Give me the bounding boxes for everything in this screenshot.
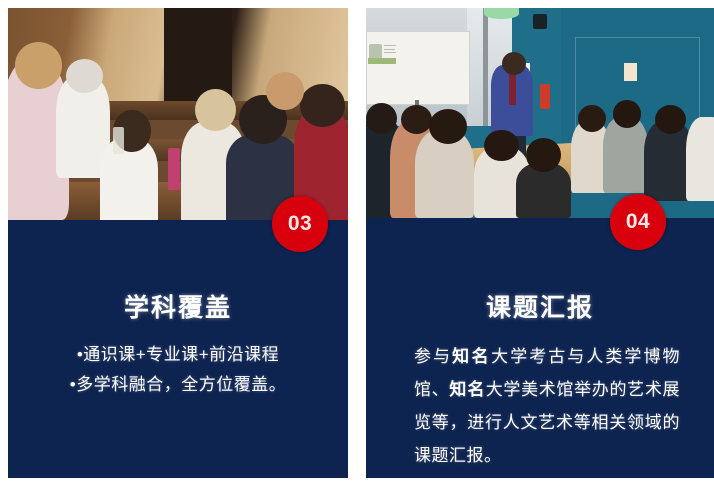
card-04: 课题汇报 参与知名大学考古与人类学博物馆、知名大学美术馆举办的艺术展览等，进行人… xyxy=(366,8,714,478)
slide-text-line xyxy=(384,45,395,46)
person-head xyxy=(195,89,236,131)
person-hand xyxy=(266,72,303,110)
audience-head xyxy=(655,105,686,134)
presenter-tie xyxy=(509,73,515,105)
photo-lecture-hall-scene xyxy=(8,8,348,220)
audience-figure xyxy=(603,117,648,193)
body-text-emphasis: 知名 xyxy=(452,347,491,366)
person-head xyxy=(66,59,103,93)
water-bottle xyxy=(113,127,123,155)
badge-04: 04 xyxy=(610,194,666,250)
card-03: 学科覆盖 •通识课+专业课+前沿课程 •多学科融合，全方位覆盖。 03 xyxy=(8,8,348,478)
audience-figure xyxy=(686,117,714,201)
photo-seminar-room-scene xyxy=(366,8,714,218)
card-03-panel: 学科覆盖 •通识课+专业课+前沿课程 •多学科融合，全方位覆盖。 xyxy=(8,220,348,478)
person-head xyxy=(300,84,344,126)
fire-extinguisher xyxy=(540,84,550,109)
wall-notice xyxy=(624,63,638,82)
slide-grass xyxy=(368,58,396,64)
card-03-title: 学科覆盖 xyxy=(8,288,348,324)
audience-head xyxy=(578,105,606,132)
card-04-panel: 课题汇报 参与知名大学考古与人类学博物馆、知名大学美术馆举办的艺术展览等，进行人… xyxy=(366,218,714,478)
infographic-page: 学科覆盖 •通识课+专业课+前沿课程 •多学科融合，全方位覆盖。 03 xyxy=(0,0,714,490)
card-03-bullet-list: •通识课+专业课+前沿课程 •多学科融合，全方位覆盖。 xyxy=(8,340,348,400)
slide-text-line xyxy=(384,49,394,50)
audience-head xyxy=(613,100,641,127)
projector-screen xyxy=(366,31,470,105)
ceiling-speaker xyxy=(533,14,547,29)
ceiling-light xyxy=(484,8,519,19)
list-item: •多学科融合，全方位覆盖。 xyxy=(8,370,348,400)
window-mullion xyxy=(483,8,488,126)
body-text-emphasis: 知名 xyxy=(449,380,485,399)
audience-head xyxy=(526,138,561,172)
body-text-run: 参与 xyxy=(414,347,452,366)
photo-lecture-hall xyxy=(8,8,348,220)
audience-head xyxy=(401,105,432,134)
water-bottle xyxy=(168,148,180,190)
person-head xyxy=(15,42,63,89)
audience-head xyxy=(429,109,467,145)
presenter-head xyxy=(502,52,526,75)
card-04-title: 课题汇报 xyxy=(366,288,714,324)
audience-head xyxy=(366,103,397,135)
list-item: •通识课+专业课+前沿课程 xyxy=(8,340,348,370)
card-04-body-text: 参与知名大学考古与人类学博物馆、知名大学美术馆举办的艺术展览等，进行人文艺术等相… xyxy=(414,340,680,472)
photo-seminar-room xyxy=(366,8,714,218)
slide-text-line xyxy=(384,52,395,53)
badge-03: 03 xyxy=(272,196,328,252)
